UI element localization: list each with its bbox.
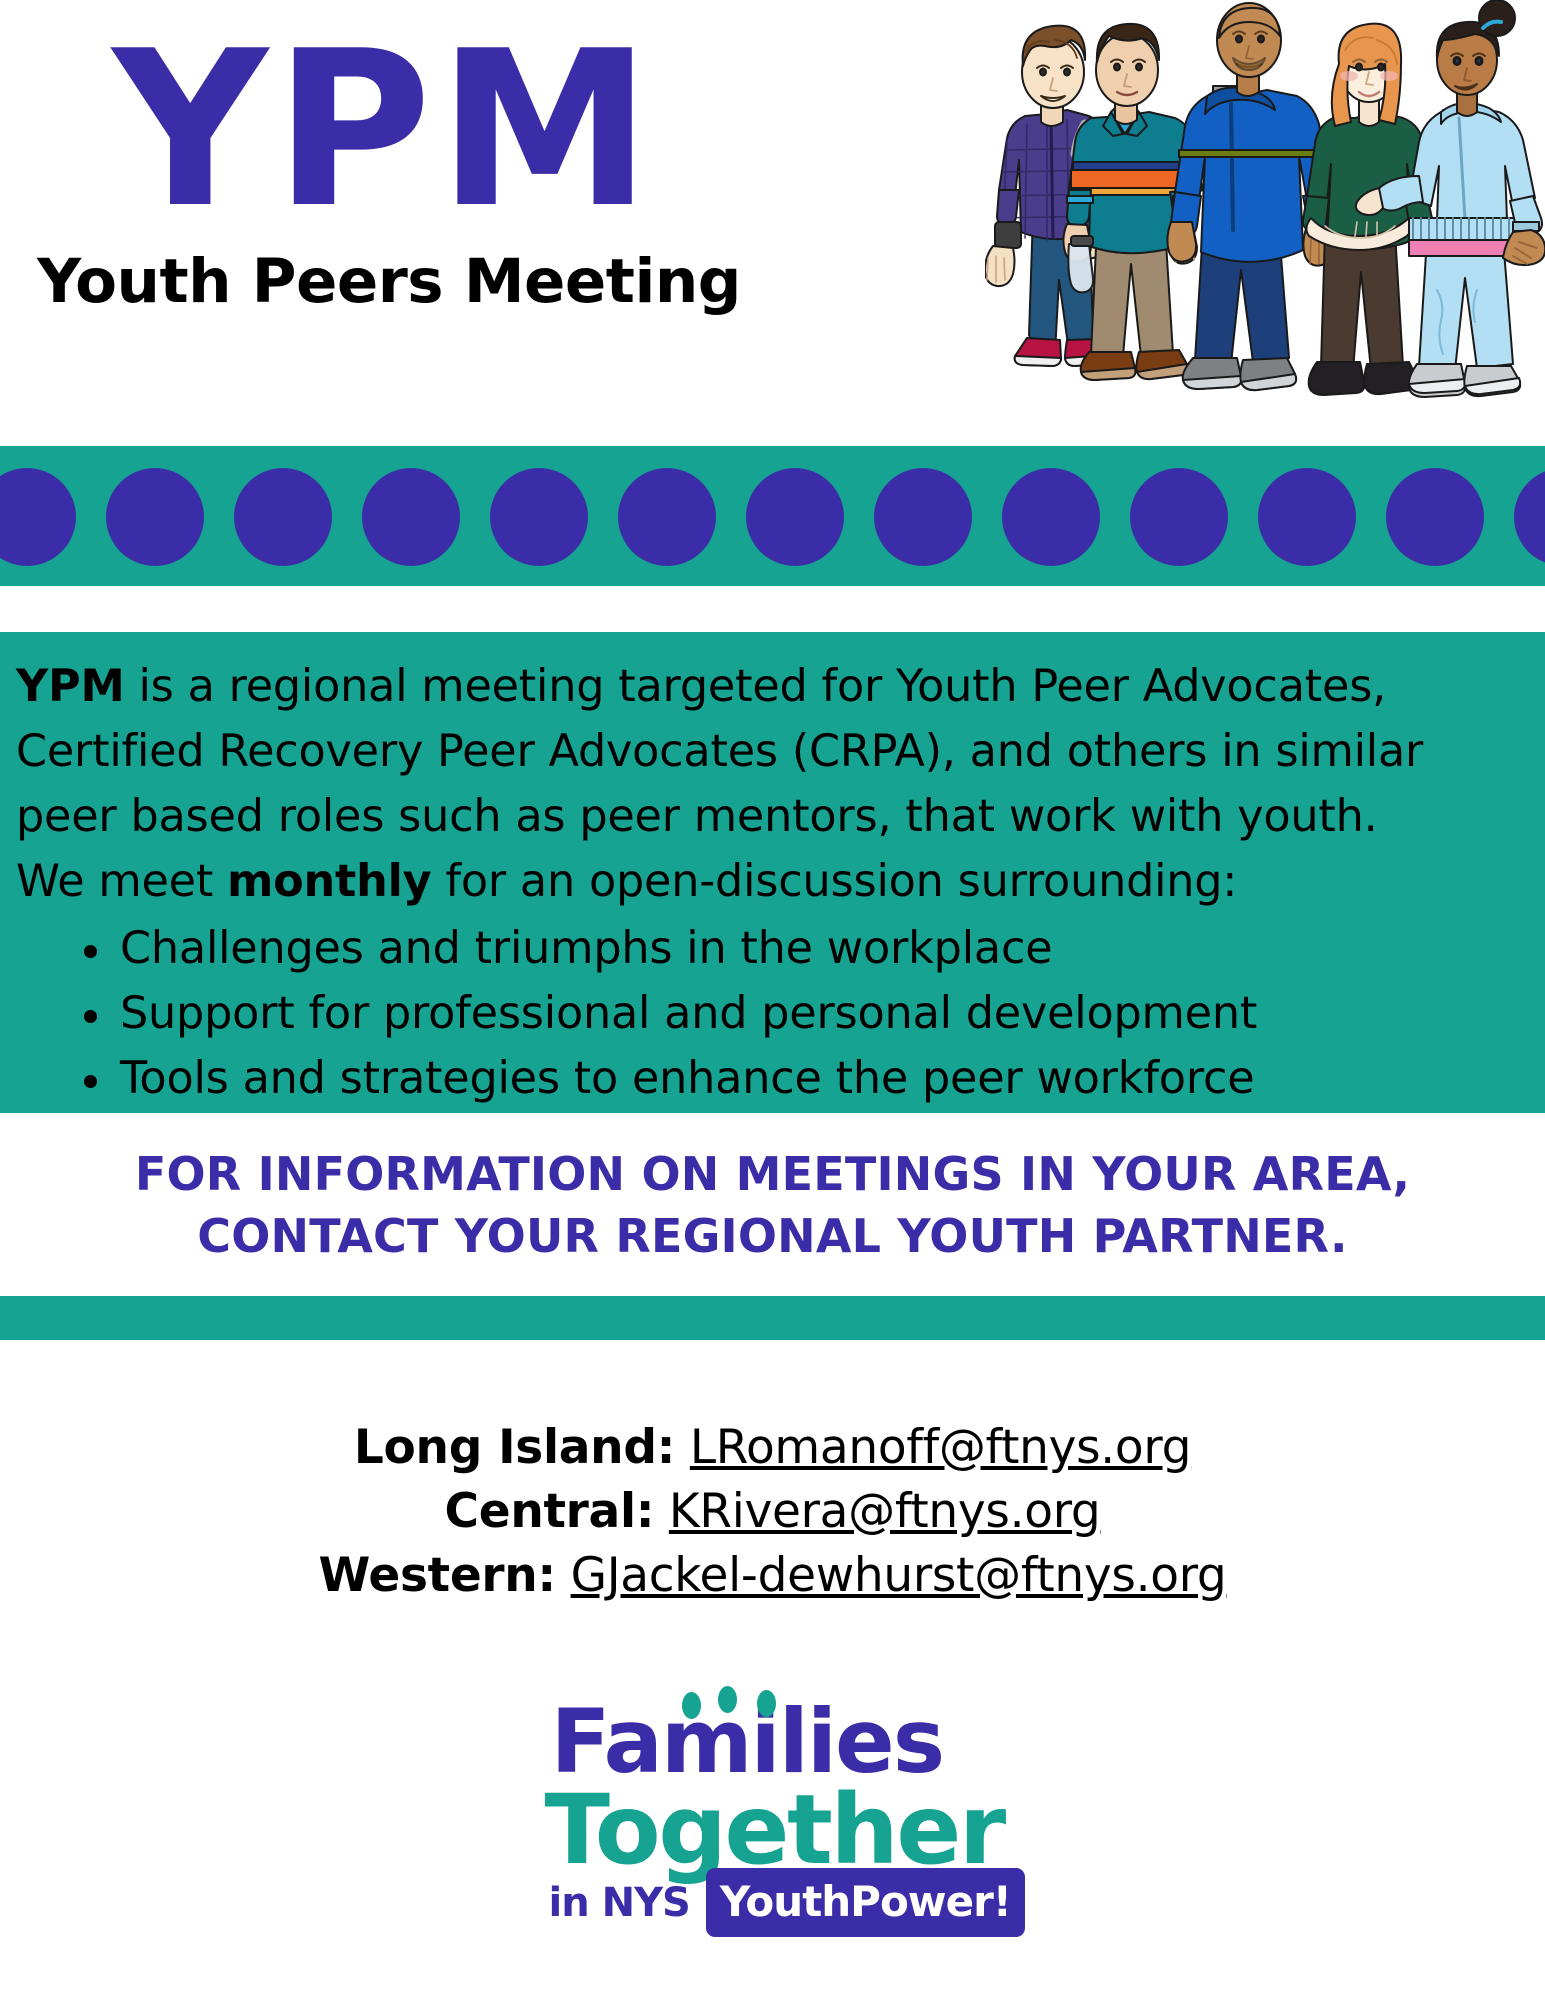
contact-list: Long Island: LRomanoff@ftnys.org Central… (0, 1420, 1545, 1612)
youth-power-badge: YouthPower! (706, 1868, 1025, 1937)
youth-group-illustration (985, 0, 1545, 446)
decorative-dot (1258, 468, 1356, 566)
decorative-dot (234, 468, 332, 566)
contact-region-label: Western: (319, 1548, 556, 1603)
cta-line-1: FOR INFORMATION ON MEETINGS IN YOUR AREA… (135, 1143, 1410, 1205)
description-intro-bold: YPM (16, 661, 125, 712)
decorative-dot (1130, 468, 1228, 566)
decorative-dot (490, 468, 588, 566)
logo-families-word: Families (543, 1700, 1003, 1784)
contact-email-link[interactable]: LRomanoff@ftnys.org (690, 1420, 1191, 1475)
contact-email-link[interactable]: GJackel-dewhurst@ftnys.org (571, 1548, 1227, 1603)
logo-dot-icon (757, 1690, 776, 1717)
contact-email-link[interactable]: KRivera@ftnys.org (669, 1484, 1101, 1539)
contact-region-label: Long Island: (354, 1420, 675, 1475)
decorative-dot (618, 468, 716, 566)
contact-row-long-island: Long Island: LRomanoff@ftnys.org (0, 1420, 1545, 1475)
teal-divider-bar (0, 1296, 1545, 1340)
decorative-dot-band (0, 446, 1545, 586)
description-panel: YPM is a regional meeting targeted for Y… (0, 632, 1545, 1113)
header: YPM Youth Peers Meeting (0, 0, 1545, 446)
logo-inner: Families Together in NYS YouthPower! (543, 1700, 1003, 1937)
topics-list: Challenges and triumphs in the workplace… (0, 916, 1545, 1111)
contact-region-label: Central: (445, 1484, 655, 1539)
decorative-dot (1386, 468, 1484, 566)
cta-line-2: CONTACT YOUR REGIONAL YOUTH PARTNER. (197, 1205, 1347, 1267)
decorative-dot (746, 468, 844, 566)
page-subtitle: Youth Peers Meeting (0, 251, 760, 312)
frequency-prefix: We meet (16, 856, 227, 907)
decorative-dot (874, 468, 972, 566)
logo-families-text: Families (551, 1690, 944, 1793)
title-block: YPM Youth Peers Meeting (0, 0, 760, 312)
decorative-dot (106, 468, 204, 566)
decorative-dot (0, 468, 76, 566)
list-item: Challenges and triumphs in the workplace (78, 916, 1545, 981)
logo-dot-icon (682, 1692, 701, 1719)
logo-in-nys-text: in NYS (549, 1880, 690, 1926)
logo-dot-icon (718, 1686, 737, 1713)
contact-row-central: Central: KRivera@ftnys.org (0, 1484, 1545, 1539)
frequency-bold: monthly (227, 856, 431, 907)
description-intro-rest: is a regional meeting targeted for Youth… (16, 661, 1423, 842)
logo-together-word: Together (543, 1784, 1003, 1876)
contact-row-western: Western: GJackel-dewhurst@ftnys.org (0, 1548, 1545, 1603)
call-to-action: FOR INFORMATION ON MEETINGS IN YOUR AREA… (0, 1113, 1545, 1296)
decorative-dot (1002, 468, 1100, 566)
description-paragraph: YPM is a regional meeting targeted for Y… (0, 632, 1545, 914)
list-item: Tools and strategies to enhance the peer… (78, 1046, 1545, 1111)
page-title: YPM (0, 22, 760, 237)
families-together-logo: Families Together in NYS YouthPower! (0, 1700, 1545, 1937)
decorative-dot (1514, 468, 1545, 566)
decorative-dot (362, 468, 460, 566)
frequency-suffix: for an open-discussion surrounding: (431, 856, 1237, 907)
list-item: Support for professional and personal de… (78, 981, 1545, 1046)
